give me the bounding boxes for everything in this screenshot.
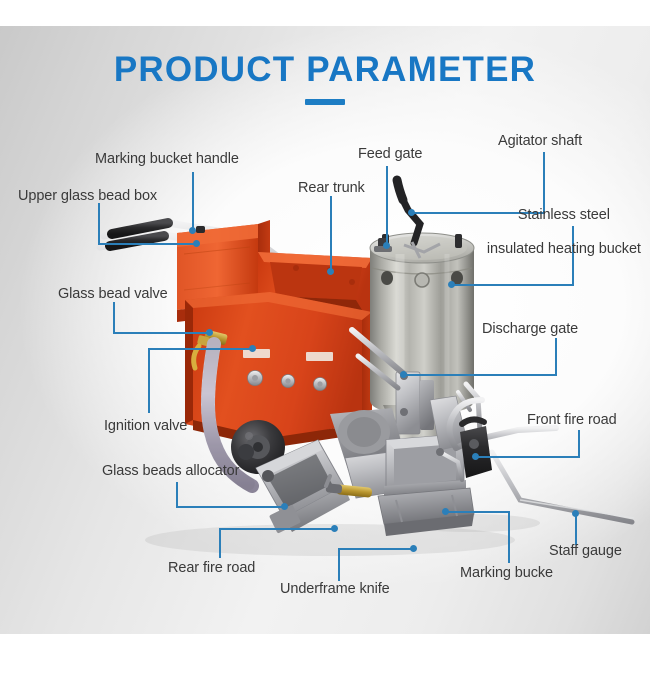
leader-ignition-valve-v	[148, 348, 150, 413]
callout-label-glass-bead-valve: Glass bead valve	[58, 286, 168, 303]
leader-stainless-bucket-h	[452, 284, 574, 286]
leader-dot-staff-gauge	[572, 510, 579, 517]
leader-dot-underframe-knife	[410, 545, 417, 552]
pivot-block	[460, 426, 492, 478]
crank-grip	[397, 180, 403, 200]
leader-dot-discharge-gate	[400, 371, 407, 378]
leader-dot-glass-bead-valve	[206, 329, 213, 336]
stainless-bucket-line-2: insulated heating bucket	[487, 241, 641, 257]
body-nameplate-1	[243, 349, 270, 358]
leader-front-fire-road-h	[478, 456, 580, 458]
leader-front-fire-road-v	[578, 430, 580, 458]
product-parameter-diagram: PRODUCT PARAMETER	[0, 0, 650, 676]
leader-ignition-valve-h	[148, 348, 252, 350]
bucket-port-cap	[415, 273, 429, 287]
leader-discharge-gate-v	[555, 338, 557, 376]
leader-rear-fire-road-v	[219, 528, 221, 558]
leader-glass-beads-allocator-h	[176, 506, 286, 508]
leader-staff-gauge	[575, 513, 577, 545]
leader-dot-glass-beads-allocator	[281, 503, 288, 510]
leader-glass-bead-valve-v	[113, 302, 115, 334]
leader-marking-bucke-v	[508, 511, 510, 563]
leader-dot-stainless-bucket	[448, 281, 455, 288]
body-nameplate-2	[306, 352, 333, 361]
leader-underframe-knife-h	[338, 548, 414, 550]
staff-gauge	[492, 452, 634, 522]
leader-rear-trunk	[330, 196, 332, 272]
leader-dot-agitator-shaft	[408, 209, 415, 216]
leader-feed-gate	[386, 166, 388, 246]
leader-dot-marking-bucke	[442, 508, 449, 515]
leader-glass-beads-allocator-v	[176, 482, 178, 508]
bead-box-cap	[196, 226, 205, 233]
leader-discharge-gate-h	[404, 374, 557, 376]
leader-marking-bucke-h	[446, 511, 510, 513]
leader-dot-front-fire-road	[472, 453, 479, 460]
leader-glass-bead-valve-h	[113, 332, 212, 334]
callout-label-marking-bucke: Marking bucke	[460, 565, 553, 582]
callout-label-agitator-shaft: Agitator shaft	[498, 133, 582, 150]
leader-dot-feed-gate	[383, 242, 390, 249]
callout-label-underframe-knife: Underframe knife	[280, 581, 390, 598]
callout-label-upper-glass-bead-box: Upper glass bead box	[18, 188, 157, 205]
leader-dot-ignition-valve	[249, 345, 256, 352]
leader-dot-upper-glass-bead-box	[193, 240, 200, 247]
leader-dot-marking-bucket-handle	[189, 227, 196, 234]
leader-dot-rear-trunk	[327, 268, 334, 275]
leader-marking-bucket-handle	[192, 172, 194, 230]
callout-label-discharge-gate: Discharge gate	[482, 321, 578, 338]
leader-upper-glass-bead-box-v	[98, 203, 100, 245]
callout-label-rear-fire-road: Rear fire road	[168, 560, 255, 577]
callout-label-ignition-valve: Ignition valve	[104, 418, 187, 435]
callout-label-front-fire-road: Front fire road	[527, 412, 617, 429]
callout-label-glass-beads-allocator: Glass beads allocator	[102, 463, 239, 480]
callout-label-stainless-steel-insulated-heating-bucket: Stainless steel insulated heating bucket	[466, 190, 646, 275]
leader-underframe-knife-v	[338, 548, 340, 581]
callout-label-staff-gauge: Staff gauge	[549, 543, 622, 560]
leader-dot-rear-fire-road	[331, 525, 338, 532]
leader-rear-fire-road-h	[219, 528, 335, 530]
callout-label-marking-bucket-handle: Marking bucket handle	[95, 151, 239, 168]
leader-upper-glass-bead-box-h	[98, 243, 198, 245]
stainless-bucket-line-1: Stainless steel	[518, 207, 610, 223]
callout-label-rear-trunk: Rear trunk	[298, 180, 365, 197]
callout-label-feed-gate: Feed gate	[358, 146, 422, 163]
